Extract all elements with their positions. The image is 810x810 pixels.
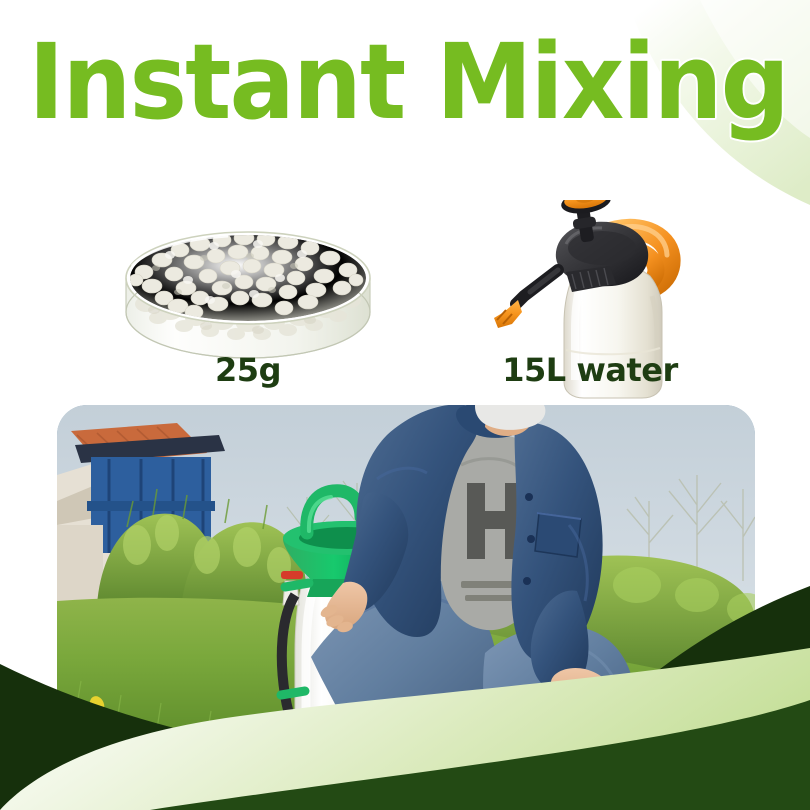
ingredients-row: 25g (40, 150, 770, 400)
ingredient-sprayer: 15L water (460, 150, 720, 400)
poster-canvas: Instant Mixing (0, 0, 810, 810)
ingredient-granules: 25g (118, 150, 378, 400)
ingredient-label-sprayer: 15L water (460, 350, 720, 390)
ingredient-label-granules: 25g (118, 350, 378, 390)
page-title: Instant Mixing (28, 27, 781, 137)
gardener-spraying-lawn-photo (57, 405, 755, 747)
